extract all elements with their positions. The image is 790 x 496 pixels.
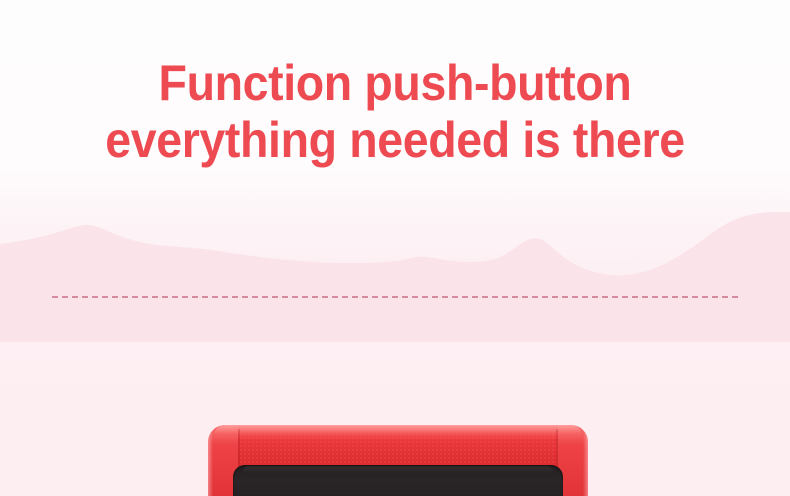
device-screen	[233, 465, 563, 496]
device-edge-highlight-right	[583, 427, 588, 496]
promo-banner: Function push-button everything needed i…	[0, 0, 790, 496]
dashed-divider	[52, 296, 738, 302]
device-screen-reflection	[243, 466, 553, 474]
headline-line-2: everything needed is there	[28, 112, 763, 169]
device-top-highlight	[214, 425, 582, 440]
device-edge-highlight-left	[208, 427, 213, 496]
page-title: Function push-button everything needed i…	[0, 55, 790, 169]
dashed-divider-line	[52, 296, 738, 298]
device-body	[208, 425, 588, 496]
headline-line-1: Function push-button	[28, 55, 763, 112]
wave-shape	[0, 212, 790, 342]
red-handheld-scanner	[208, 425, 588, 496]
decorative-pink-wave-band	[0, 212, 790, 342]
